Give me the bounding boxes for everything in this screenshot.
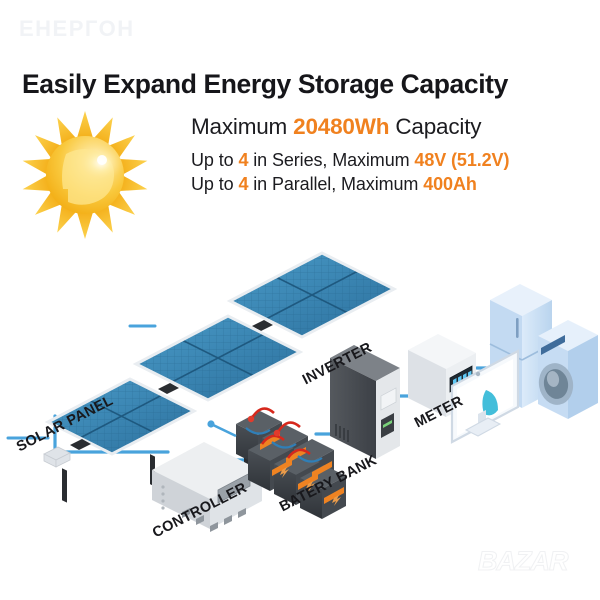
spec-series-middle: in Series, Maximum bbox=[248, 150, 414, 170]
spec-parallel-prefix: Up to bbox=[191, 174, 238, 194]
spec-list: Maximum 20480Wh Capacity Up to 4 in Seri… bbox=[191, 114, 509, 197]
spec-parallel-middle: in Parallel, Maximum bbox=[248, 174, 423, 194]
spec-parallel-value: 400Ah bbox=[423, 174, 477, 194]
spec-parallel-count: 4 bbox=[238, 174, 248, 194]
spec-capacity-prefix: Maximum bbox=[191, 114, 293, 139]
spec-series-prefix: Up to bbox=[191, 150, 238, 170]
sun-icon bbox=[22, 108, 150, 240]
spec-series-value: 48V (51.2V) bbox=[414, 150, 509, 170]
washing-machine bbox=[536, 320, 598, 419]
brand-watermark-top: ЕНЕРГОН bbox=[19, 16, 135, 42]
spec-capacity-suffix: Capacity bbox=[389, 114, 481, 139]
system-diagram bbox=[0, 238, 600, 558]
infographic-canvas: ЕНЕРГОН BAZAR Easily Expand Energy Stora… bbox=[0, 0, 600, 600]
spec-parallel: Up to 4 in Parallel, Maximum 400Ah bbox=[191, 172, 509, 197]
spec-capacity-value: 20480Wh bbox=[293, 114, 389, 139]
spec-series: Up to 4 in Series, Maximum 48V (51.2V) bbox=[191, 148, 509, 173]
spec-capacity: Maximum 20480Wh Capacity bbox=[191, 114, 509, 141]
spec-series-count: 4 bbox=[238, 150, 248, 170]
page-title: Easily Expand Energy Storage Capacity bbox=[22, 69, 508, 100]
